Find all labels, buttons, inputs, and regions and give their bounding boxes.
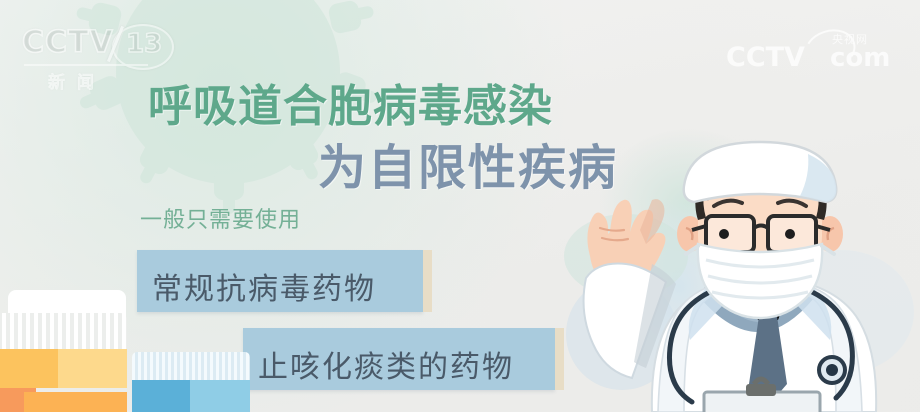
bottle-body-left — [0, 349, 58, 388]
bottle-cap-ribbed — [0, 313, 127, 349]
virus-spike — [214, 170, 244, 200]
medicine-bottle-orange — [0, 313, 127, 412]
bottle-cap-ribbed — [132, 352, 250, 380]
bottle-body-right — [58, 349, 127, 388]
medicine-bottle-blue — [132, 352, 250, 412]
cctv-com-watermark: CCTV 央视网 com — [726, 34, 902, 76]
bottle-base-right — [24, 392, 127, 412]
doctor-eye-left — [719, 229, 729, 239]
headline-line-1: 呼吸道合胞病毒感染 — [148, 70, 553, 134]
headline-subline: 一般只需要使用 — [140, 202, 301, 234]
cctv-bug-divider — [24, 64, 148, 66]
bottle-body-right — [190, 380, 250, 412]
clipboard-clip — [746, 384, 776, 396]
cctv-bug-channel-name: 新闻 — [48, 68, 106, 93]
doctor-eye-right — [785, 229, 795, 239]
bottle-body-left — [132, 380, 190, 412]
treatment-band-2-label: 止咳化痰类的药物 — [258, 342, 514, 386]
watermark-domain-text: com — [830, 43, 890, 73]
virus-spike — [327, 0, 363, 35]
treatment-band-1-label: 常规抗病毒药物 — [152, 264, 376, 308]
cctv-bug-channel-number: 13 — [126, 29, 162, 59]
doctor-illustration — [556, 136, 920, 412]
broadcast-graphic-frame: CCTV 13 新闻 CCTV 央视网 com 呼吸道合胞病毒感染 为自限性疾病… — [0, 0, 920, 412]
treatment-band-1-tail — [423, 250, 432, 312]
watermark-cctv-wordmark: CCTV — [726, 42, 805, 73]
